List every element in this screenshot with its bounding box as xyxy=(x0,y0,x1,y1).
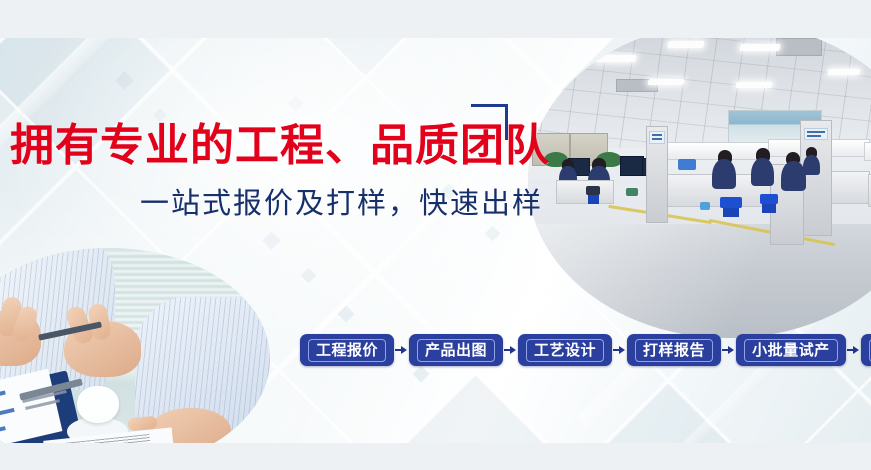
process-step-3[interactable]: 工艺设计 xyxy=(518,334,612,366)
arrow-right-icon xyxy=(394,344,409,356)
process-step-label: 工程报价 xyxy=(308,339,386,362)
promo-banner: 拥有专业的工程、品质团队 一站式报价及打样，快速出样 工程报价 产品出图 工艺设… xyxy=(0,0,871,470)
process-step-label: 小批量试产 xyxy=(744,339,838,362)
process-step-label: 工艺设计 xyxy=(526,339,604,362)
arrow-right-icon xyxy=(721,344,736,356)
process-step-4[interactable]: 打样报告 xyxy=(627,334,721,366)
process-step-6[interactable]: 批量量产 xyxy=(861,334,871,366)
page-subtitle: 一站式报价及打样，快速出样 xyxy=(140,185,543,221)
process-step-label: 产品出图 xyxy=(417,339,495,362)
top-band xyxy=(0,0,871,38)
process-step-5[interactable]: 小批量试产 xyxy=(736,334,846,366)
business-consultation-photo xyxy=(0,248,270,470)
process-step-2[interactable]: 产品出图 xyxy=(409,334,503,366)
factory-office-photo xyxy=(528,22,871,338)
process-flow: 工程报价 产品出图 工艺设计 打样报告 小批量试产 批量量产 xyxy=(300,334,871,366)
arrow-right-icon xyxy=(503,344,518,356)
page-title: 拥有专业的工程、品质团队 xyxy=(10,120,550,172)
bottom-band xyxy=(0,443,871,470)
process-step-1[interactable]: 工程报价 xyxy=(300,334,394,366)
arrow-right-icon xyxy=(612,344,627,356)
corner-bracket-decoration xyxy=(471,104,508,140)
arrow-right-icon xyxy=(846,344,861,356)
process-step-label: 打样报告 xyxy=(635,339,713,362)
